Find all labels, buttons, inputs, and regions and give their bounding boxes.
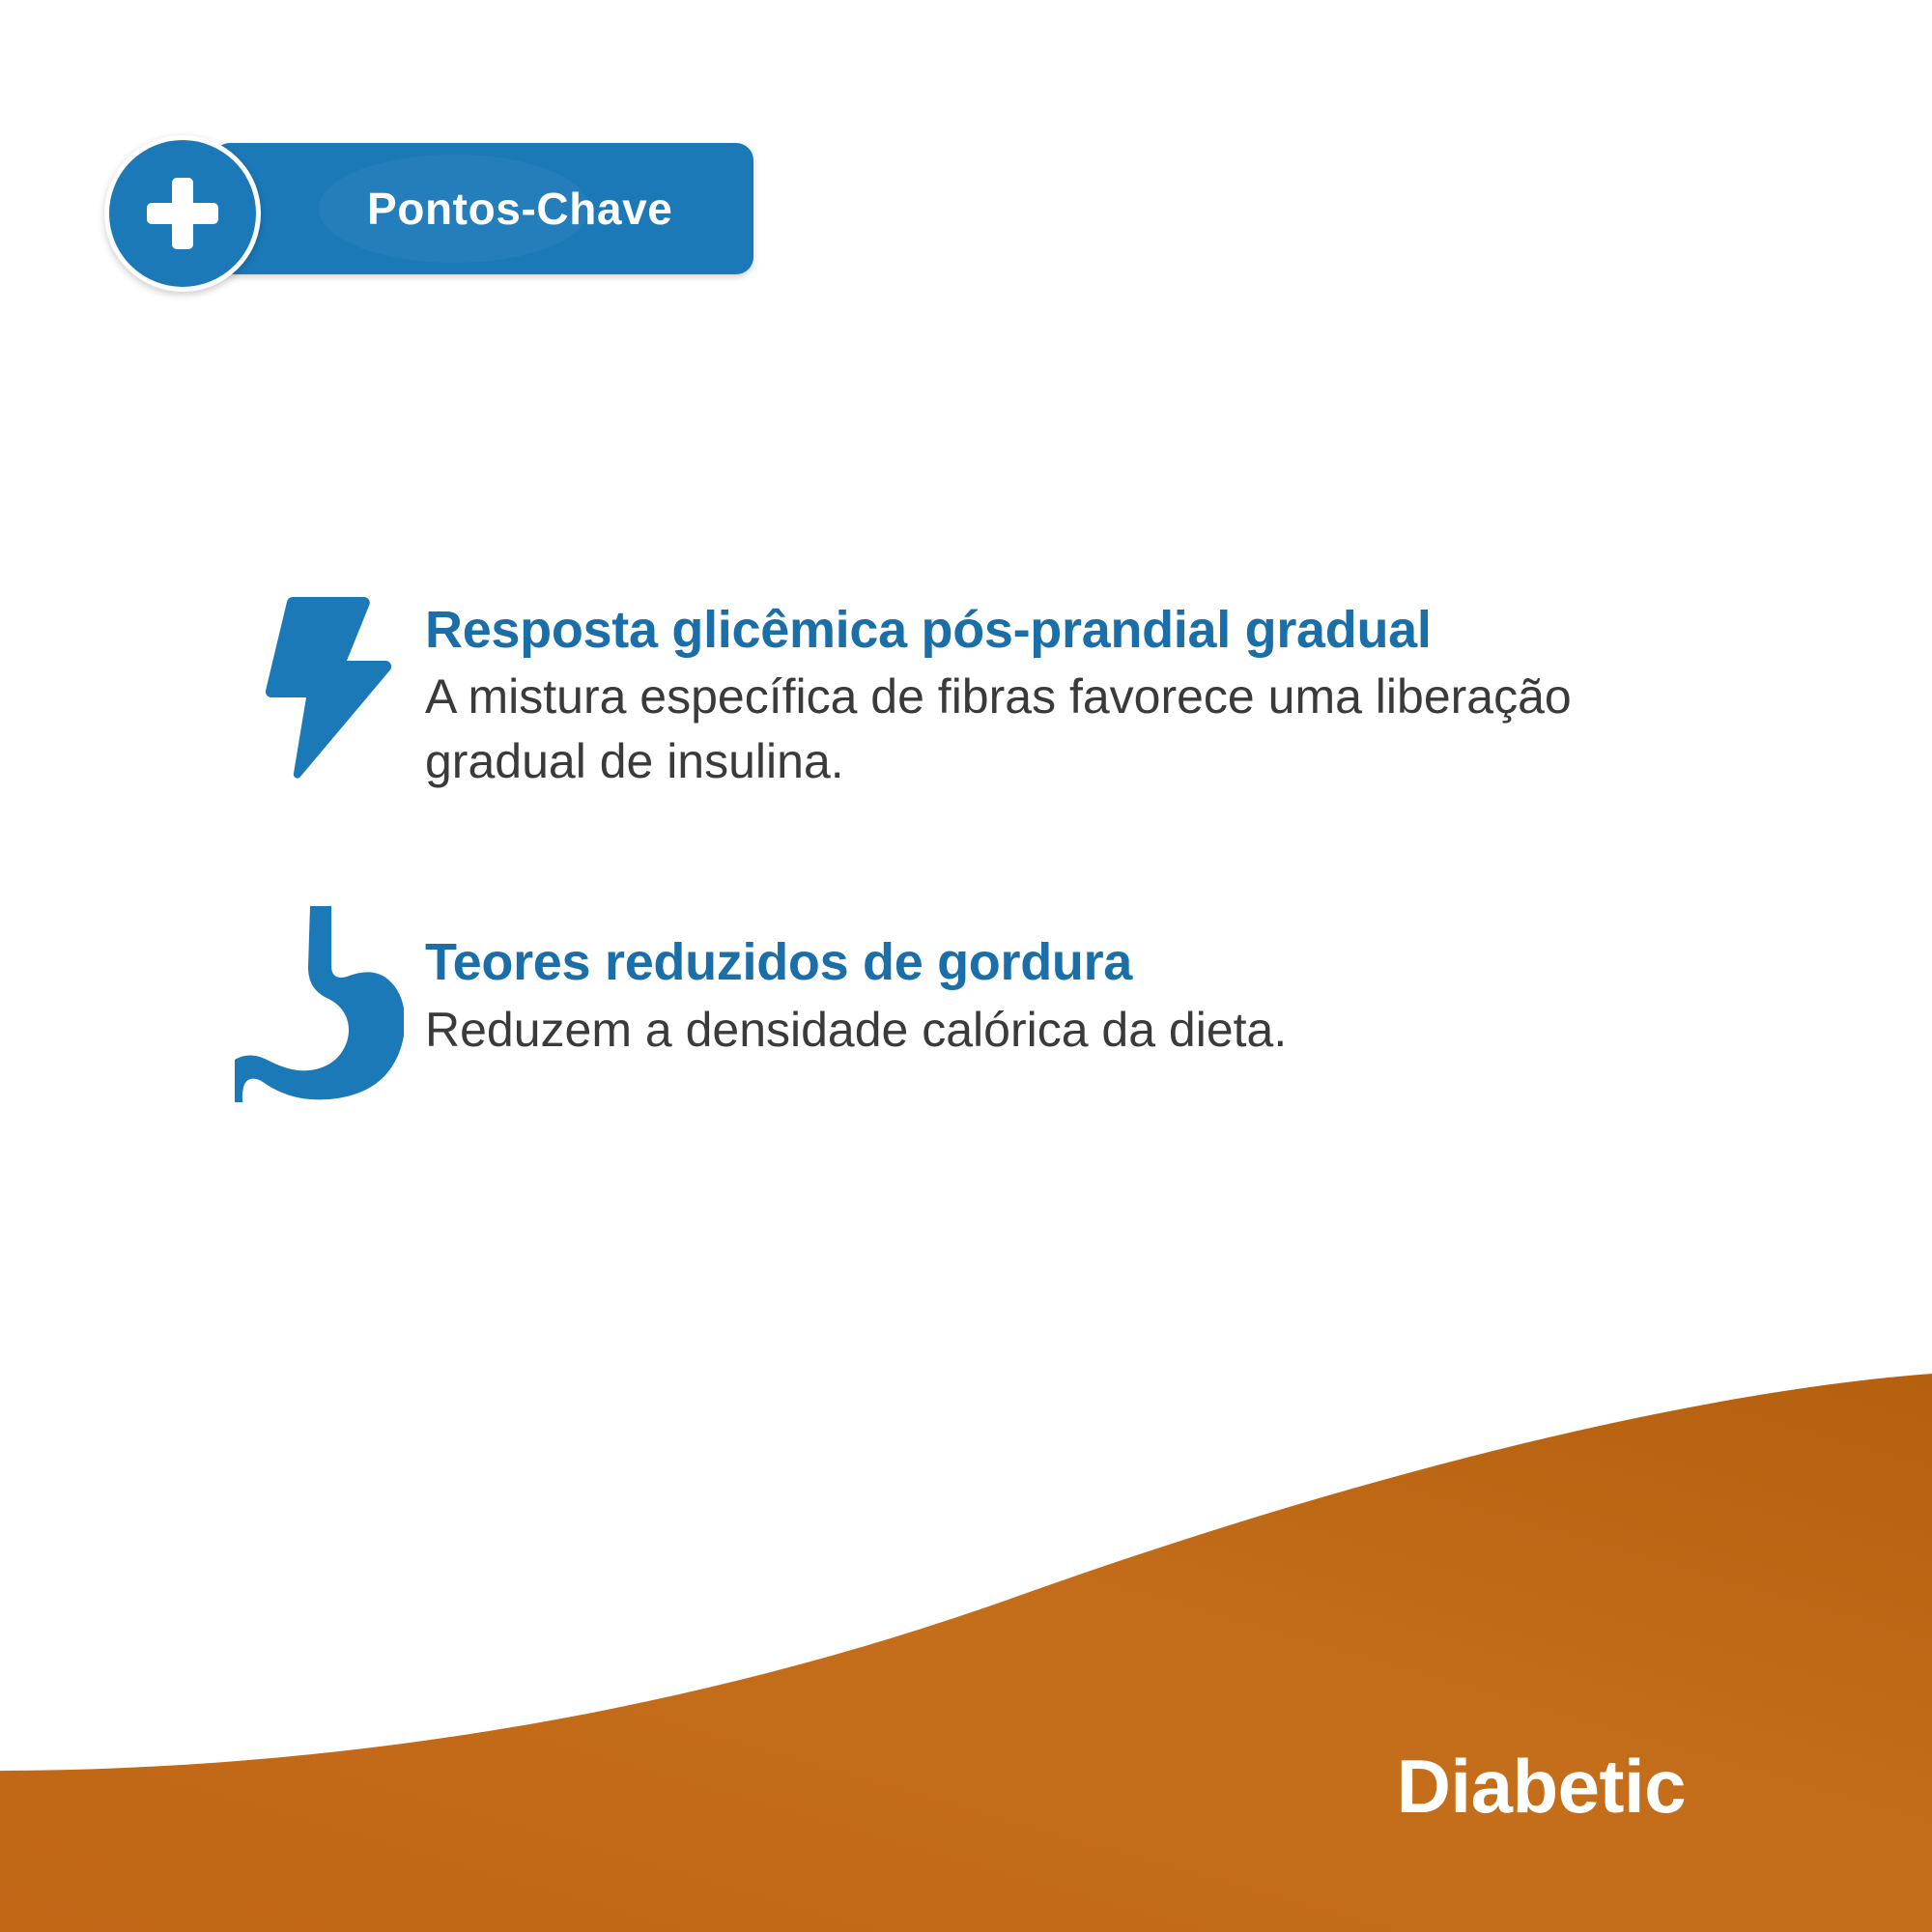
slide-canvas: Pontos-Chave Resposta glicêmica pós-pran… xyxy=(0,0,1932,1932)
list-item-text: Teores reduzidos de gordura Reduzem a de… xyxy=(415,900,1806,1062)
footer-brand: Diabetic xyxy=(1397,1743,1686,1831)
list-item: Resposta glicêmica pós-prandial gradual … xyxy=(222,589,1806,794)
list-item: Teores reduzidos de gordura Reduzem a de… xyxy=(222,900,1806,1097)
badge-label: Pontos-Chave xyxy=(367,183,672,235)
list-item-title: Teores reduzidos de gordura xyxy=(425,933,1806,991)
medical-cross-icon xyxy=(147,178,218,249)
footer-wave xyxy=(0,1333,1932,1932)
badge-pill: Pontos-Chave xyxy=(213,143,753,274)
list-item-title: Resposta glicêmica pós-prandial gradual xyxy=(425,601,1806,659)
list-item-body: Reduzem a densidade calórica da dieta. xyxy=(425,998,1633,1063)
lightning-bolt-icon xyxy=(222,589,415,786)
list-item-text: Resposta glicêmica pós-prandial gradual … xyxy=(415,589,1806,794)
list-item-body: A mistura específica de fibras favorece … xyxy=(425,665,1633,794)
stomach-icon xyxy=(222,900,415,1097)
badge-circle xyxy=(104,135,261,292)
key-points-list: Resposta glicêmica pós-prandial gradual … xyxy=(222,589,1806,1204)
